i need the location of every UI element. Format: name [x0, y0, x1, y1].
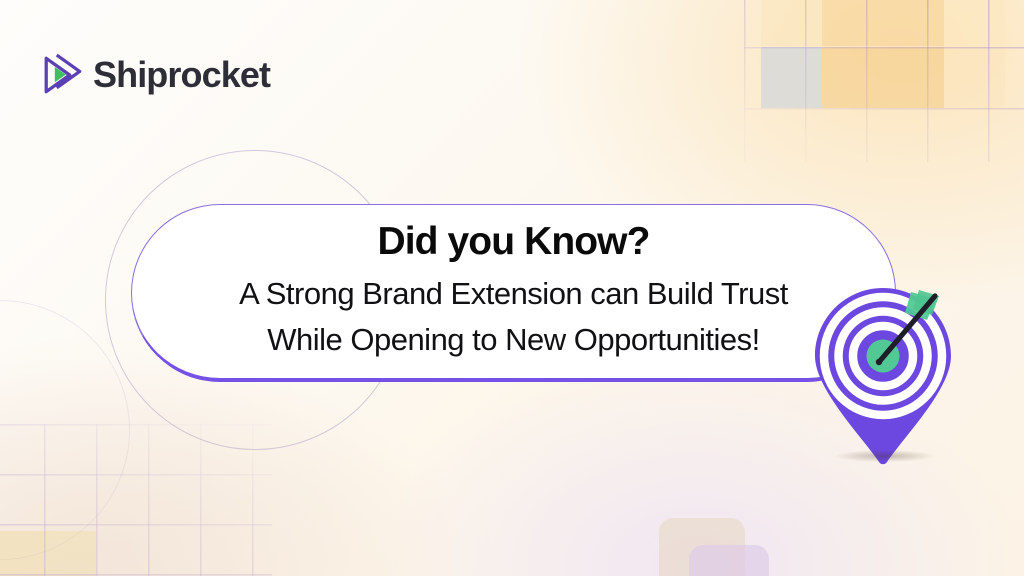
did-you-know-card: Did you Know? A Strong Brand Extension c… — [131, 204, 896, 382]
pin-drop-shadow — [835, 450, 935, 462]
decorative-grid-top-right — [744, 0, 1024, 162]
poster-canvas: Shiprocket Did you Know? A Strong Brand … — [0, 0, 1024, 576]
shiprocket-logo[interactable]: Shiprocket — [40, 52, 270, 98]
card-title: Did you Know? — [377, 221, 649, 263]
shiprocket-play-logo-icon — [40, 52, 84, 98]
card-body-line-2: While Opening to New Opportunities! — [267, 317, 760, 362]
card-body-line-1: A Strong Brand Extension can Build Trust — [239, 271, 788, 316]
shiprocket-wordmark: Shiprocket — [93, 57, 270, 93]
decorative-square-lavender — [689, 545, 769, 576]
target-pin-with-arrow-icon — [815, 288, 951, 473]
